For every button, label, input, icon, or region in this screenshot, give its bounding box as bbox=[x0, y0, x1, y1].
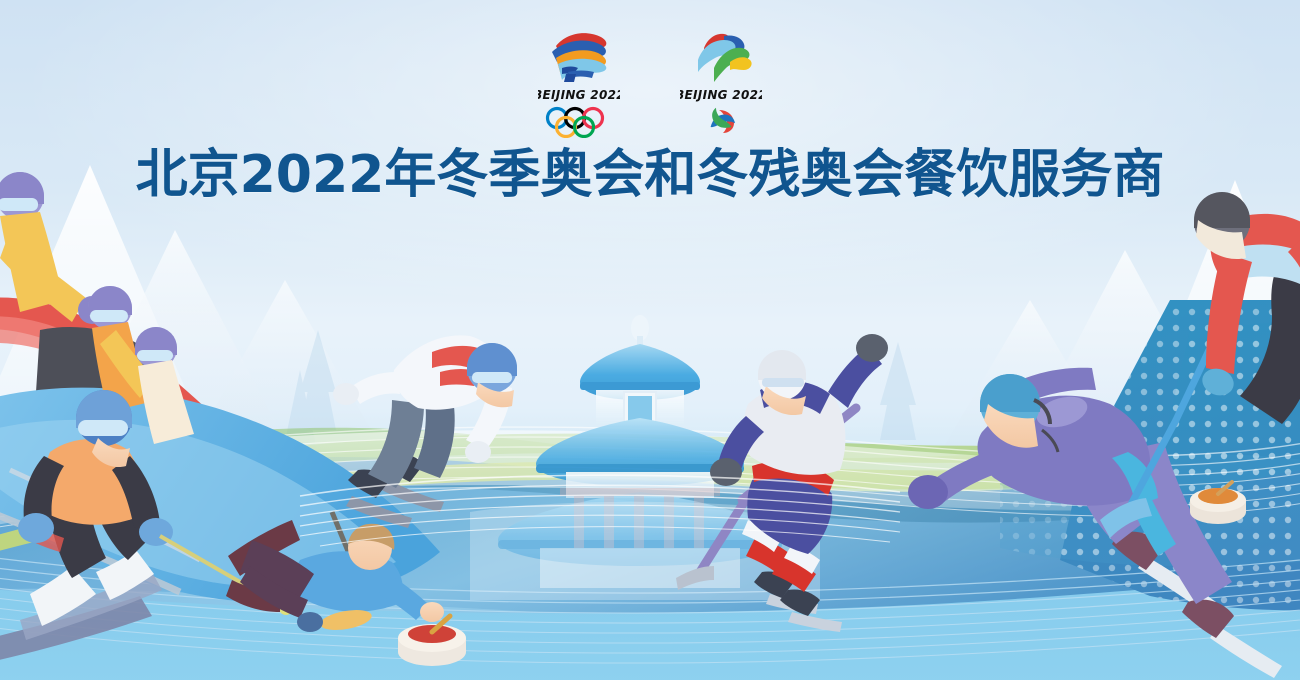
olympic-wordmark-icon: BEIJING 2022 bbox=[538, 87, 620, 102]
emblem-row: BEIJING 2022 BEI bbox=[0, 28, 1300, 138]
paralympic-fei-ribbon-icon bbox=[684, 28, 758, 84]
paralympic-wordmark-icon: BEIJING 2022 bbox=[680, 87, 762, 102]
olympic-dong-ribbon-icon bbox=[542, 28, 616, 84]
olympic-emblem: BEIJING 2022 bbox=[533, 28, 625, 138]
olympic-wordmark-text: BEIJING 2022 bbox=[538, 88, 620, 102]
olympic-rings-icon bbox=[543, 106, 615, 138]
page-title: 北京2022年冬季奥会和冬残奥会餐饮服务商 bbox=[0, 146, 1300, 204]
beijing-2022-catering-banner: BEIJING 2022 BEI bbox=[0, 0, 1300, 680]
paralympic-wordmark-text: BEIJING 2022 bbox=[680, 88, 762, 102]
paralympic-emblem: BEIJING 2022 bbox=[675, 28, 767, 138]
paralympic-agitos-icon bbox=[685, 106, 757, 138]
